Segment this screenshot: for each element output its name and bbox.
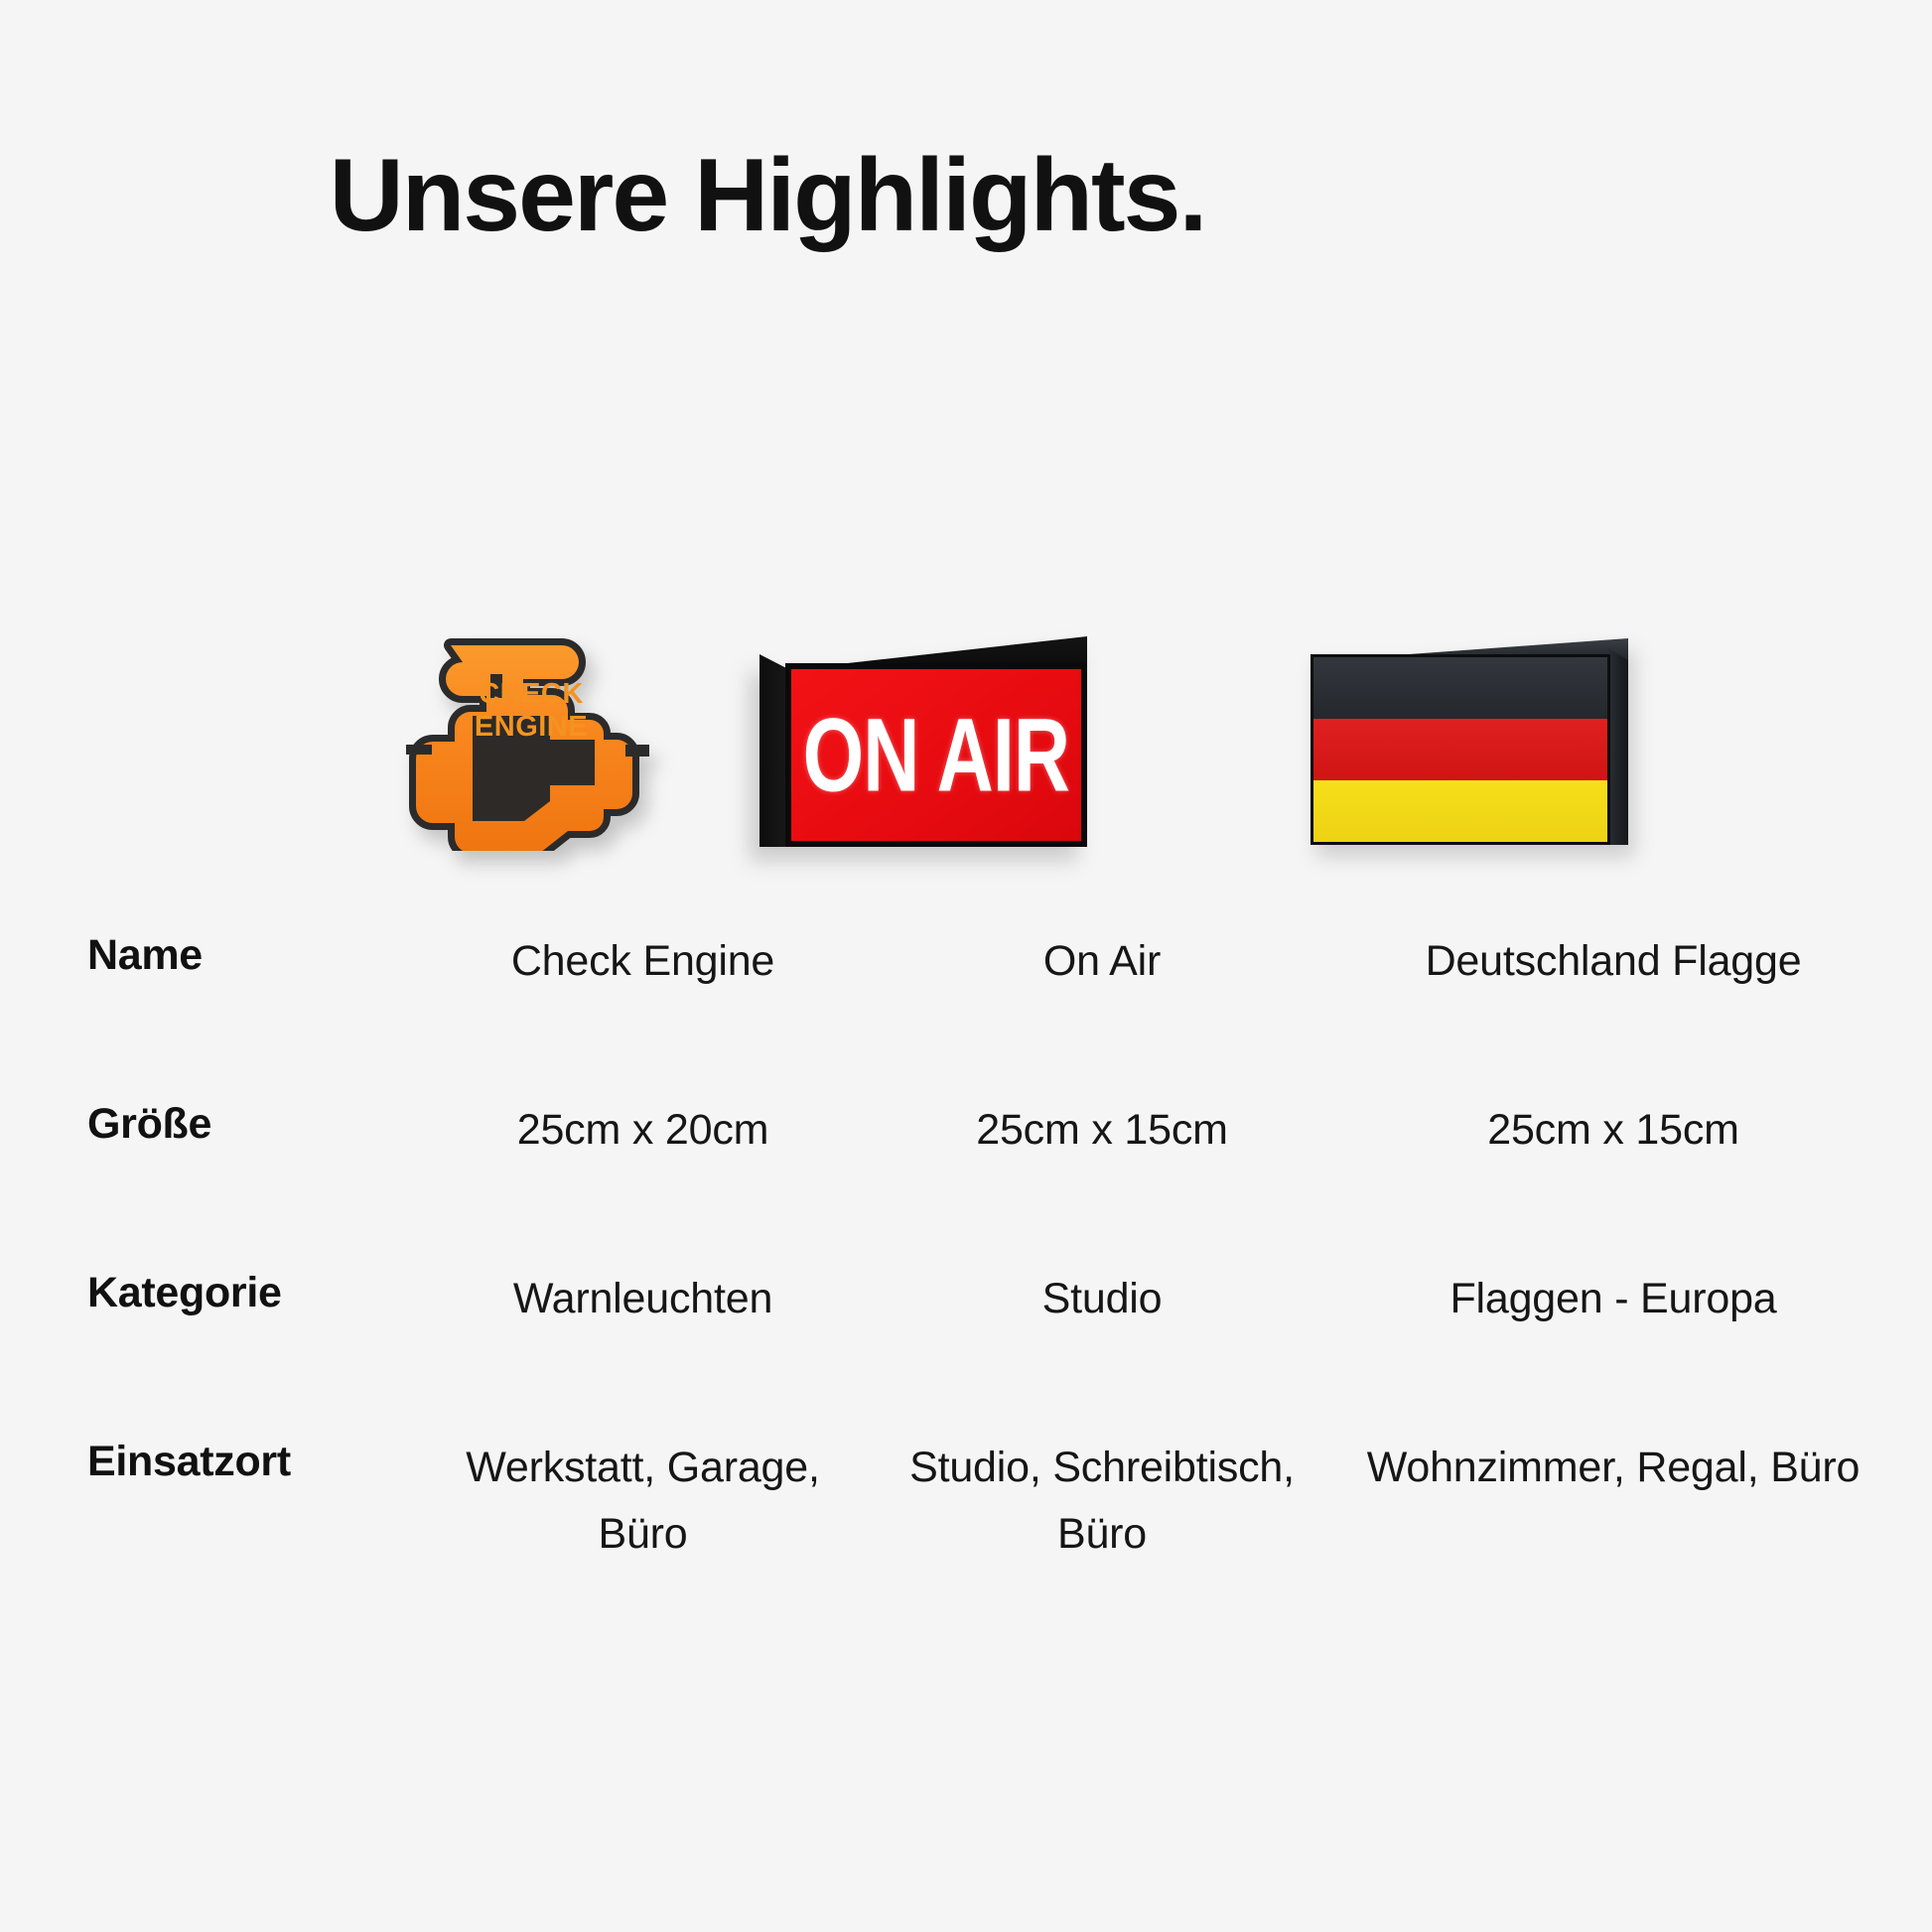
cell-einsatzort-check-engine: Werkstatt, Garage, Büro [417, 1435, 869, 1567]
cell-groesse-check-engine: 25cm x 20cm [417, 1097, 869, 1164]
on-air-label: ON AIR [803, 703, 1069, 807]
cell-kategorie-deutschland: Flaggen - Europa [1335, 1266, 1891, 1332]
row-label-einsatzort: Einsatzort [0, 1435, 417, 1490]
table-row: Einsatzort Werkstatt, Garage, Büro Studi… [0, 1435, 1932, 1633]
page-title: Unsere Highlights. [0, 139, 1535, 252]
cell-einsatzort-on-air: Studio, Schreibtisch, Büro [869, 1435, 1335, 1567]
cell-name-check-engine: Check Engine [417, 928, 869, 995]
table-row: Größe 25cm x 20cm 25cm x 15cm 25cm x 15c… [0, 1097, 1932, 1266]
cell-name-on-air: On Air [869, 928, 1335, 995]
flag-box-front-face [1311, 654, 1610, 845]
row-label-groesse: Größe [0, 1097, 417, 1153]
on-air-box-front-face: ON AIR [791, 669, 1081, 841]
cell-einsatzort-deutschland: Wohnzimmer, Regal, Büro [1335, 1435, 1891, 1501]
cell-groesse-deutschland: 25cm x 15cm [1335, 1097, 1891, 1164]
flag-band-red [1313, 719, 1607, 780]
flag-band-black [1313, 657, 1607, 719]
cell-kategorie-check-engine: Warnleuchten [417, 1266, 869, 1332]
row-label-name: Name [0, 928, 417, 984]
flag-box-side-face [1608, 648, 1628, 845]
on-air-lightbox-icon: ON AIR [759, 636, 1087, 847]
check-engine-silhouette-icon [357, 613, 705, 851]
product-comparison-table: Name Check Engine On Air Deutschland Fla… [0, 928, 1932, 1633]
on-air-box-front-frame: ON AIR [785, 663, 1087, 847]
german-flag-lightbox-icon [1311, 638, 1628, 845]
row-label-kategorie: Kategorie [0, 1266, 417, 1321]
product-image-check-engine[interactable]: CHECK ENGINE [288, 541, 774, 869]
cell-kategorie-on-air: Studio [869, 1266, 1335, 1332]
cell-name-deutschland: Deutschland Flagge [1335, 928, 1891, 995]
cell-groesse-on-air: 25cm x 15cm [869, 1097, 1335, 1164]
product-image-row: CHECK ENGINE ON AIR [0, 541, 1932, 869]
product-image-on-air[interactable]: ON AIR [735, 541, 1112, 869]
table-row: Kategorie Warnleuchten Studio Flaggen - … [0, 1266, 1932, 1435]
table-row: Name Check Engine On Air Deutschland Fla… [0, 928, 1932, 1097]
product-image-deutschland-flagge[interactable] [1132, 541, 1807, 869]
flag-band-gold [1313, 780, 1607, 842]
check-engine-lamp-icon: CHECK ENGINE [357, 613, 705, 851]
